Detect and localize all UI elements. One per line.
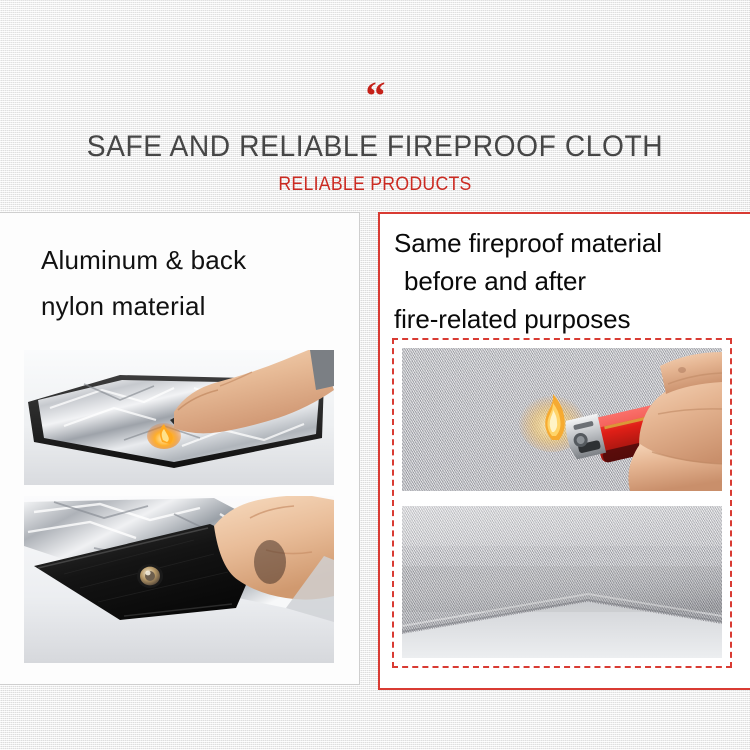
- aluminum-foil-lighter-photo: [24, 350, 334, 485]
- right-caption-line-2: before and after: [394, 262, 750, 300]
- product-banner-page: “ SAFE AND RELIABLE FIREPROOF CLOTH RELI…: [0, 0, 750, 750]
- right-feature-card: Same fireproof material before and after…: [378, 212, 750, 690]
- banner-header: “ SAFE AND RELIABLE FIREPROOF CLOTH RELI…: [0, 0, 750, 205]
- quote-mark-icon: “: [0, 76, 750, 116]
- page-subtitle: RELIABLE PRODUCTS: [26, 173, 724, 196]
- lighter-flame-artwork: [402, 348, 722, 491]
- aluminum-foil-lighter-artwork: [24, 350, 334, 485]
- gray-fireproof-fabric-closeup-photo: [402, 506, 722, 658]
- left-card-caption: Aluminum & back nylon material: [41, 237, 341, 329]
- fabric-fold-artwork: [402, 506, 722, 658]
- right-caption-line-1: Same fireproof material: [394, 224, 750, 262]
- left-caption-line-2: nylon material: [41, 283, 341, 329]
- left-feature-card: Aluminum & back nylon material: [0, 212, 360, 685]
- left-caption-line-1: Aluminum & back: [41, 237, 341, 283]
- right-caption-line-3: fire-related purposes: [394, 300, 750, 338]
- black-nylon-backing-grommet-photo: [24, 496, 334, 663]
- page-title: SAFE AND RELIABLE FIREPROOF CLOTH: [23, 129, 728, 165]
- black-nylon-backing-grommet-artwork: [24, 496, 334, 663]
- right-card-caption: Same fireproof material before and after…: [394, 224, 750, 338]
- lighter-flame-on-gray-fabric-photo: [402, 348, 722, 491]
